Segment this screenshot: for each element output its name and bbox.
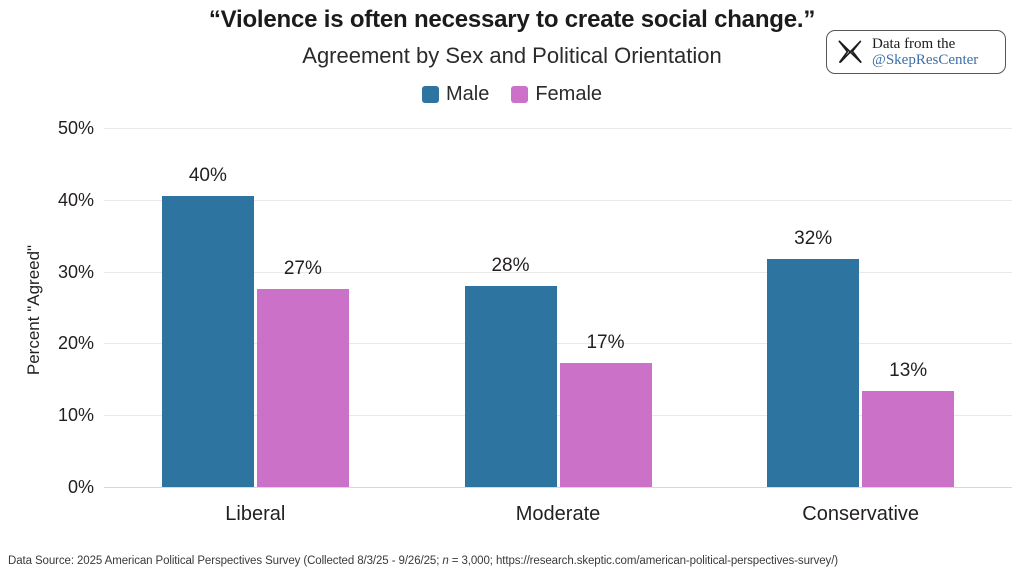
y-tick-label-30: 30% — [40, 263, 94, 281]
bar-liberal-female[interactable] — [257, 289, 349, 487]
bar-value-moderate-female: 17% — [540, 333, 672, 352]
bar-value-liberal-female: 27% — [237, 259, 369, 278]
y-axis-tick-labels: 50%40%30%20%10%0% — [34, 0, 94, 577]
x-tick-label-moderate: Moderate — [448, 503, 668, 525]
y-tick-label-40: 40% — [40, 191, 94, 209]
bar-liberal-male[interactable] — [162, 196, 254, 487]
footnote-part-1: Data Source: 2025 American Political Per… — [8, 555, 442, 567]
y-tick-label-50: 50% — [40, 119, 94, 137]
gridline-50 — [104, 128, 1012, 129]
footnote-part-2: = 3,000; https://research.skeptic.com/am… — [449, 555, 838, 567]
plot-area: Percent "Agreed" 50%40%30%20%10%0% 40%27… — [0, 0, 1024, 577]
y-tick-label-10: 10% — [40, 406, 94, 424]
x-tick-label-conservative: Conservative — [751, 503, 971, 525]
bar-moderate-female[interactable] — [560, 363, 652, 487]
data-source-footnote: Data Source: 2025 American Political Per… — [8, 555, 838, 567]
bar-value-conservative-male: 32% — [747, 229, 879, 248]
bar-conservative-female[interactable] — [862, 391, 954, 487]
bar-value-liberal-male: 40% — [142, 166, 274, 185]
x-tick-label-liberal: Liberal — [145, 503, 365, 525]
y-tick-label-20: 20% — [40, 334, 94, 352]
y-tick-label-0: 0% — [40, 478, 94, 496]
bar-value-conservative-female: 13% — [842, 361, 974, 380]
bar-value-moderate-male: 28% — [445, 256, 577, 275]
x-axis-baseline — [104, 487, 1012, 488]
bar-moderate-male[interactable] — [465, 286, 557, 487]
